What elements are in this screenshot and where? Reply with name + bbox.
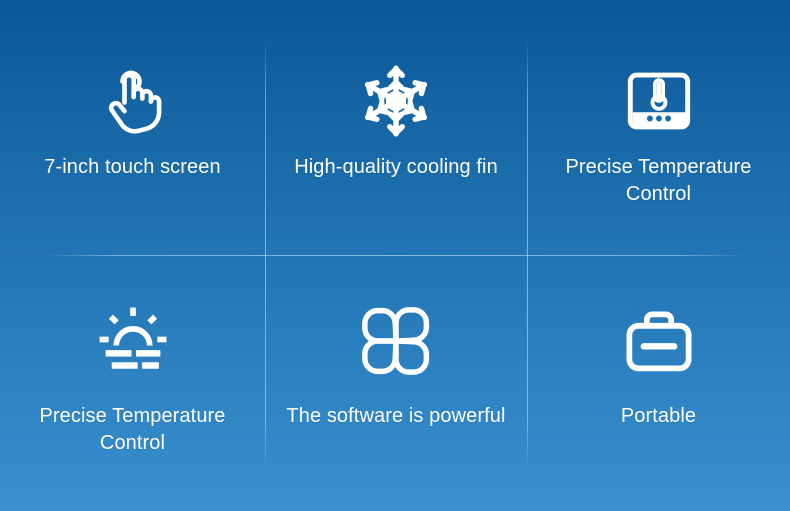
feature-cell-temperature-control-bottom[interactable]: Precise Temperature Control: [0, 255, 265, 511]
briefcase-icon: [621, 295, 697, 387]
feature-label: Precise Temperature Control: [18, 403, 248, 457]
sunrise-heat-icon: [95, 295, 171, 387]
feature-label: High-quality cooling fin: [294, 154, 498, 181]
thermometer-panel-icon: [624, 62, 694, 140]
feature-cell-touch-screen[interactable]: 7-inch touch screen: [0, 0, 265, 255]
snowflake-icon: [357, 62, 435, 140]
hand-touch-icon: [96, 62, 170, 140]
feature-grid: 7-inch touch screen: [0, 0, 790, 511]
feature-label: 7-inch touch screen: [44, 154, 220, 181]
feature-label: Precise Temperature Control: [544, 154, 774, 208]
feature-cell-software[interactable]: The software is powerful: [265, 255, 527, 511]
feature-board: 7-inch touch screen: [0, 0, 790, 511]
four-petal-clover-icon: [358, 295, 434, 387]
feature-cell-temperature-control-top[interactable]: Precise Temperature Control: [527, 0, 790, 255]
feature-label: The software is powerful: [286, 403, 505, 430]
feature-cell-portable[interactable]: Portable: [527, 255, 790, 511]
feature-cell-cooling-fin[interactable]: High-quality cooling fin: [265, 0, 527, 255]
feature-label: Portable: [621, 403, 696, 430]
